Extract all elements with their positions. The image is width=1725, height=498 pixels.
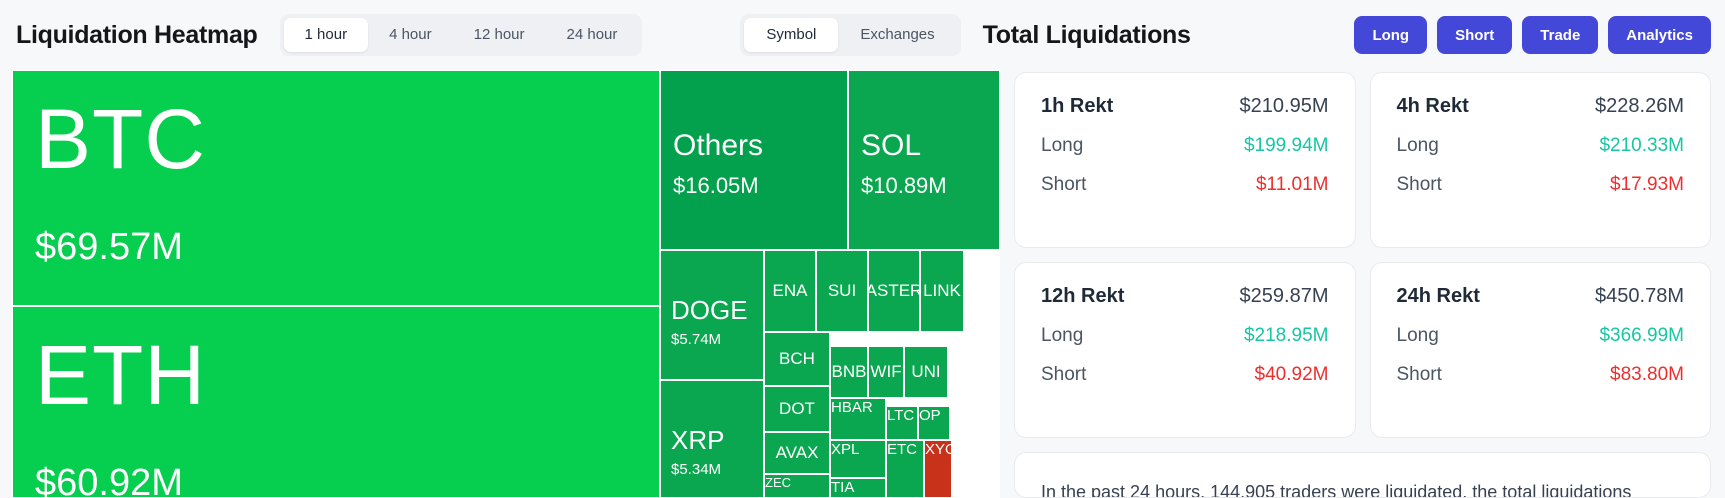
tile-symbol-label: BCH	[779, 349, 815, 369]
treemap-tile-others[interactable]: Others$16.05M	[660, 70, 848, 250]
total-liquidations-title: Total Liquidations	[983, 21, 1191, 50]
rekt-card-1h: 1h Rekt$210.95MLong$199.94MShort$11.01M	[1014, 72, 1356, 248]
tile-symbol-label: TIA	[831, 479, 854, 496]
tile-value-label: $5.74M	[671, 331, 721, 348]
view-tab-exchanges[interactable]: Exchanges	[838, 18, 956, 52]
tile-symbol-label: LINK	[923, 281, 961, 301]
tile-symbol-label: DOGE	[671, 295, 748, 326]
treemap-tile-zec[interactable]: ZEC	[764, 474, 830, 498]
rekt-card-grid: 1h Rekt$210.95MLong$199.94MShort$11.01M4…	[1014, 72, 1711, 438]
tile-symbol-label: DOT	[779, 399, 815, 419]
rekt-long-row: Long$218.95M	[1041, 325, 1329, 347]
tile-value-label: $69.57M	[35, 226, 183, 269]
rekt-long-label: Long	[1041, 135, 1083, 157]
rekt-short-row: Short$40.92M	[1041, 364, 1329, 386]
treemap-tile-ena[interactable]: ENA	[764, 250, 816, 332]
treemap-tile-op[interactable]: OP	[918, 406, 950, 440]
tile-value-label: $60.92M	[35, 462, 183, 498]
treemap-tile-btc[interactable]: BTC$69.57M	[12, 70, 660, 306]
summary-text: In the past 24 hours, 144,905 traders we…	[1041, 479, 1684, 498]
rekt-total-value: $228.26M	[1595, 95, 1684, 118]
tile-symbol-label: SUI	[828, 281, 856, 301]
rekt-period-label: 1h Rekt	[1041, 95, 1113, 118]
rekt-total-value: $259.87M	[1240, 285, 1329, 308]
trade-button[interactable]: Trade	[1522, 16, 1598, 54]
rekt-short-label: Short	[1397, 364, 1442, 386]
treemap-tile-xyo[interactable]: XYO	[924, 440, 952, 498]
rekt-short-value: $83.80M	[1610, 364, 1684, 386]
treemap-tile-hbar[interactable]: HBAR	[830, 398, 886, 440]
stats-panel: 1h Rekt$210.95MLong$199.94MShort$11.01M4…	[1014, 70, 1711, 498]
liquidation-treemap[interactable]: BTC$69.57METH$60.92MOthers$16.05MSOL$10.…	[12, 70, 1000, 498]
treemap-tile-bch[interactable]: BCH	[764, 332, 830, 386]
rekt-short-label: Short	[1397, 174, 1442, 196]
treemap-tile-uni[interactable]: UNI	[904, 346, 948, 398]
tile-symbol-label: HBAR	[831, 399, 873, 416]
tile-symbol-label: OP	[919, 407, 941, 424]
page-header: Liquidation Heatmap 1 hour4 hour12 hour2…	[0, 0, 1725, 70]
rekt-long-value: $218.95M	[1244, 325, 1329, 347]
tile-symbol-label: XYO	[925, 441, 952, 458]
treemap-tile-sui[interactable]: SUI	[816, 250, 868, 332]
rekt-period-label: 12h Rekt	[1041, 285, 1124, 308]
page-title: Liquidation Heatmap	[16, 21, 258, 50]
main-content: BTC$69.57METH$60.92MOthers$16.05MSOL$10.…	[0, 70, 1725, 498]
tile-value-label: $16.05M	[673, 173, 759, 199]
timeframe-tab-24-hour[interactable]: 24 hour	[546, 18, 639, 52]
treemap-tile-doge[interactable]: DOGE$5.74M	[660, 250, 764, 380]
rekt-long-row: Long$210.33M	[1397, 135, 1685, 157]
rekt-long-label: Long	[1041, 325, 1083, 347]
long-button[interactable]: Long	[1354, 16, 1427, 54]
rekt-total-value: $210.95M	[1240, 95, 1329, 118]
rekt-long-label: Long	[1397, 135, 1439, 157]
tile-symbol-label: ETH	[35, 333, 206, 417]
tile-value-label: $10.89M	[861, 173, 947, 199]
tile-symbol-label: ETC	[887, 441, 917, 458]
treemap-tile-bnb[interactable]: BNB	[830, 346, 868, 398]
rekt-short-value: $11.01M	[1256, 174, 1329, 196]
tile-symbol-label: SOL	[861, 129, 921, 163]
tile-symbol-label: LTC	[887, 407, 914, 424]
view-tab-symbol[interactable]: Symbol	[744, 18, 838, 52]
treemap-tile-wif[interactable]: WIF	[868, 346, 904, 398]
rekt-total-row: 24h Rekt$450.78M	[1397, 285, 1685, 308]
treemap-tile-xrp[interactable]: XRP$5.34M	[660, 380, 764, 498]
tile-symbol-label: UNI	[911, 362, 940, 382]
treemap-tile-tia[interactable]: TIA	[830, 478, 886, 498]
rekt-long-value: $366.99M	[1599, 325, 1684, 347]
treemap-tile-xpl[interactable]: XPL	[830, 440, 886, 478]
tile-symbol-label: XPL	[831, 441, 859, 458]
rekt-long-label: Long	[1397, 325, 1439, 347]
rekt-period-label: 24h Rekt	[1397, 285, 1480, 308]
rekt-card-12h: 12h Rekt$259.87MLong$218.95MShort$40.92M	[1014, 262, 1356, 438]
summary-card: In the past 24 hours, 144,905 traders we…	[1014, 452, 1711, 498]
rekt-period-label: 4h Rekt	[1397, 95, 1469, 118]
rekt-total-row: 4h Rekt$228.26M	[1397, 95, 1685, 118]
treemap-tile-etc[interactable]: ETC	[886, 440, 924, 498]
tile-value-label: $5.34M	[671, 461, 721, 478]
short-button[interactable]: Short	[1437, 16, 1512, 54]
treemap-tile-ltc[interactable]: LTC	[886, 406, 918, 440]
view-mode-tabs[interactable]: SymbolExchanges	[740, 14, 960, 56]
timeframe-tab-12-hour[interactable]: 12 hour	[453, 18, 546, 52]
rekt-total-row: 1h Rekt$210.95M	[1041, 95, 1329, 118]
rekt-long-value: $199.94M	[1244, 135, 1329, 157]
tile-symbol-label: Others	[673, 129, 763, 163]
treemap-tile-link[interactable]: LINK	[920, 250, 964, 332]
tile-symbol-label: BTC	[35, 97, 206, 181]
rekt-total-row: 12h Rekt$259.87M	[1041, 285, 1329, 308]
rekt-short-label: Short	[1041, 364, 1086, 386]
treemap-tile-avax[interactable]: AVAX	[764, 432, 830, 474]
analytics-button[interactable]: Analytics	[1608, 16, 1711, 54]
tile-symbol-label: XRP	[671, 425, 724, 456]
timeframe-tab-1-hour[interactable]: 1 hour	[284, 18, 369, 52]
rekt-card-4h: 4h Rekt$228.26MLong$210.33MShort$17.93M	[1370, 72, 1712, 248]
tile-symbol-label: ENA	[773, 281, 808, 301]
rekt-long-value: $210.33M	[1599, 135, 1684, 157]
tile-symbol-label: BNB	[832, 362, 867, 382]
rekt-short-value: $40.92M	[1255, 364, 1329, 386]
tile-symbol-label: ASTER	[868, 281, 920, 301]
header-action-buttons: LongShortTradeAnalytics	[1354, 16, 1711, 54]
treemap-tile-aster[interactable]: ASTER	[868, 250, 920, 332]
rekt-short-label: Short	[1041, 174, 1086, 196]
treemap-tile-dot[interactable]: DOT	[764, 386, 830, 432]
tile-symbol-label: ZEC	[765, 475, 791, 490]
rekt-card-24h: 24h Rekt$450.78MLong$366.99MShort$83.80M	[1370, 262, 1712, 438]
rekt-long-row: Long$366.99M	[1397, 325, 1685, 347]
treemap-tile-eth[interactable]: ETH$60.92M	[12, 306, 660, 498]
rekt-short-row: Short$11.01M	[1041, 174, 1329, 196]
timeframe-tabs[interactable]: 1 hour4 hour12 hour24 hour	[280, 14, 643, 56]
rekt-short-row: Short$83.80M	[1397, 364, 1685, 386]
timeframe-tab-4-hour[interactable]: 4 hour	[368, 18, 453, 52]
rekt-long-row: Long$199.94M	[1041, 135, 1329, 157]
rekt-short-row: Short$17.93M	[1397, 174, 1685, 196]
rekt-short-value: $17.93M	[1610, 174, 1684, 196]
tile-symbol-label: WIF	[870, 362, 901, 382]
rekt-total-value: $450.78M	[1595, 285, 1684, 308]
treemap-tile-sol[interactable]: SOL$10.89M	[848, 70, 1000, 250]
tile-symbol-label: AVAX	[776, 443, 819, 463]
